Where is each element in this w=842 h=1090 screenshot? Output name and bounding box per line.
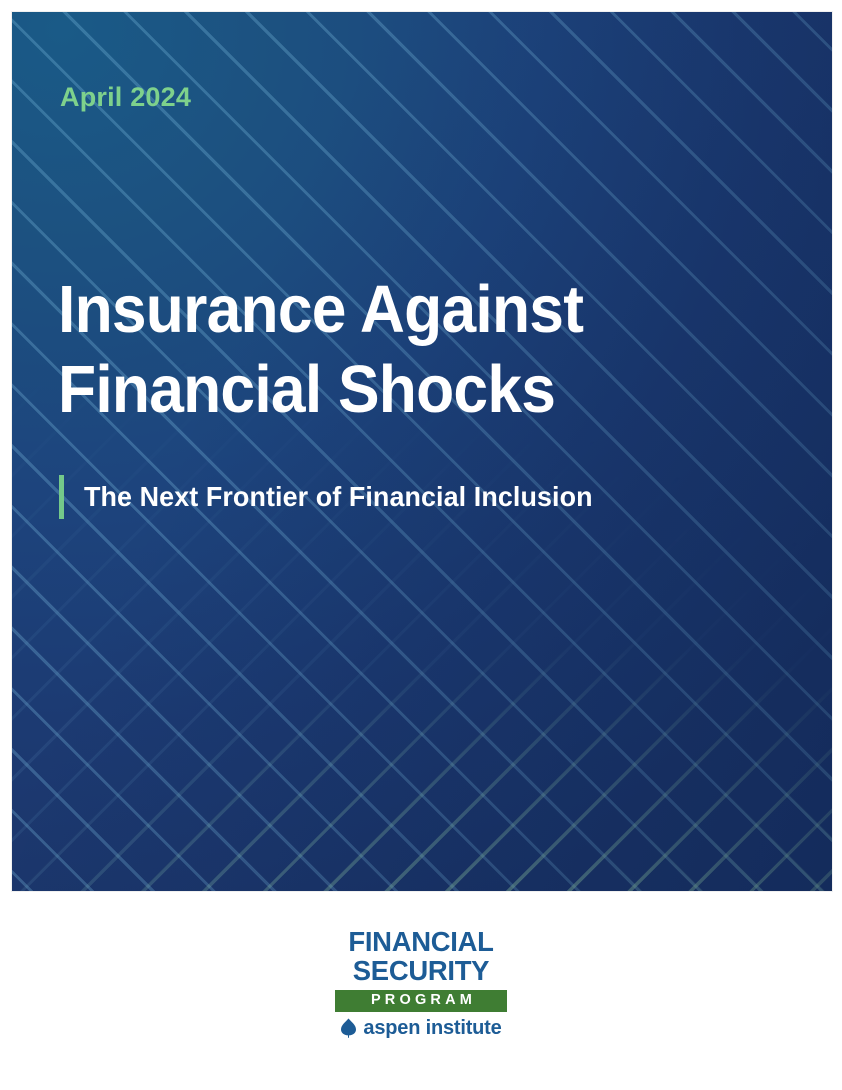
logo-area: FINANCIAL SECURITY PROGRAM aspen institu… (0, 928, 842, 1038)
logo-line-financial: FINANCIAL (337, 928, 506, 957)
subtitle-text: The Next Frontier of Financial Inclusion (84, 475, 593, 519)
cover-content: April 2024 Insurance Against Financial S… (12, 12, 832, 891)
subtitle-accent-rule (59, 475, 64, 519)
aspen-leaf-icon (340, 1018, 357, 1038)
subtitle: The Next Frontier of Financial Inclusion (59, 475, 614, 519)
page-title: Insurance Against Financial Shocks (58, 270, 758, 429)
aspen-institute-text: aspen institute (363, 1018, 501, 1038)
page-title-line-1: Insurance Against (58, 270, 709, 350)
logo-line-security: SECURITY (337, 957, 506, 986)
page-title-line-2: Financial Shocks (58, 350, 709, 430)
aspen-institute-lockup: aspen institute (335, 1018, 507, 1038)
financial-security-program-logo: FINANCIAL SECURITY PROGRAM aspen institu… (335, 928, 507, 1038)
logo-program-bar: PROGRAM (335, 990, 507, 1012)
publication-date: April 2024 (60, 82, 191, 113)
document-page: April 2024 Insurance Against Financial S… (0, 0, 842, 1090)
cover-panel: April 2024 Insurance Against Financial S… (12, 12, 832, 891)
